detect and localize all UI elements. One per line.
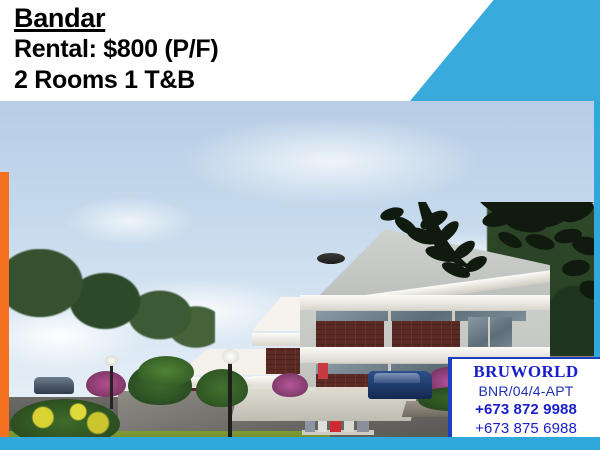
parked-car-grey [34,377,74,394]
roof-water-tank [317,253,345,264]
cyan-triangle-accent [410,0,600,101]
contact-card: BRUWORLD BNR/04/4-APT +673 872 9988 +673… [448,357,600,437]
listing-headline: Bandar Rental: $800 (P/F) 2 Rooms 1 T&B [14,2,218,96]
orange-accent-bar-left [0,172,9,437]
phone-primary[interactable]: +673 872 9988 [452,400,600,419]
property-listing-ad: Bandar Rental: $800 (P/F) 2 Rooms 1 T&B … [0,0,600,450]
listing-location: Bandar [14,2,218,34]
listing-reference: BNR/04/4-APT [452,382,600,400]
lamp-post [110,363,113,409]
flowering-shrub-pink [272,373,308,397]
hanging-laundry [302,421,374,435]
shrub [196,369,248,407]
agency-brand: BRUWORLD [452,362,600,382]
lamp-post [228,359,232,443]
cyan-accent-bar-bottom [0,437,600,450]
lamp-globe [105,355,118,366]
balcony-curtain [318,363,328,379]
palm-shrub [138,356,194,386]
listing-rental: Rental: $800 (P/F) [14,34,218,65]
header-banner: Bandar Rental: $800 (P/F) 2 Rooms 1 T&B [0,0,600,101]
phone-secondary[interactable]: +673 875 6988 [452,419,600,438]
listing-rooms: 2 Rooms 1 T&B [14,65,218,96]
lamp-globe [222,349,239,364]
car-window [374,373,420,383]
flowering-shrub-pink [86,371,126,397]
